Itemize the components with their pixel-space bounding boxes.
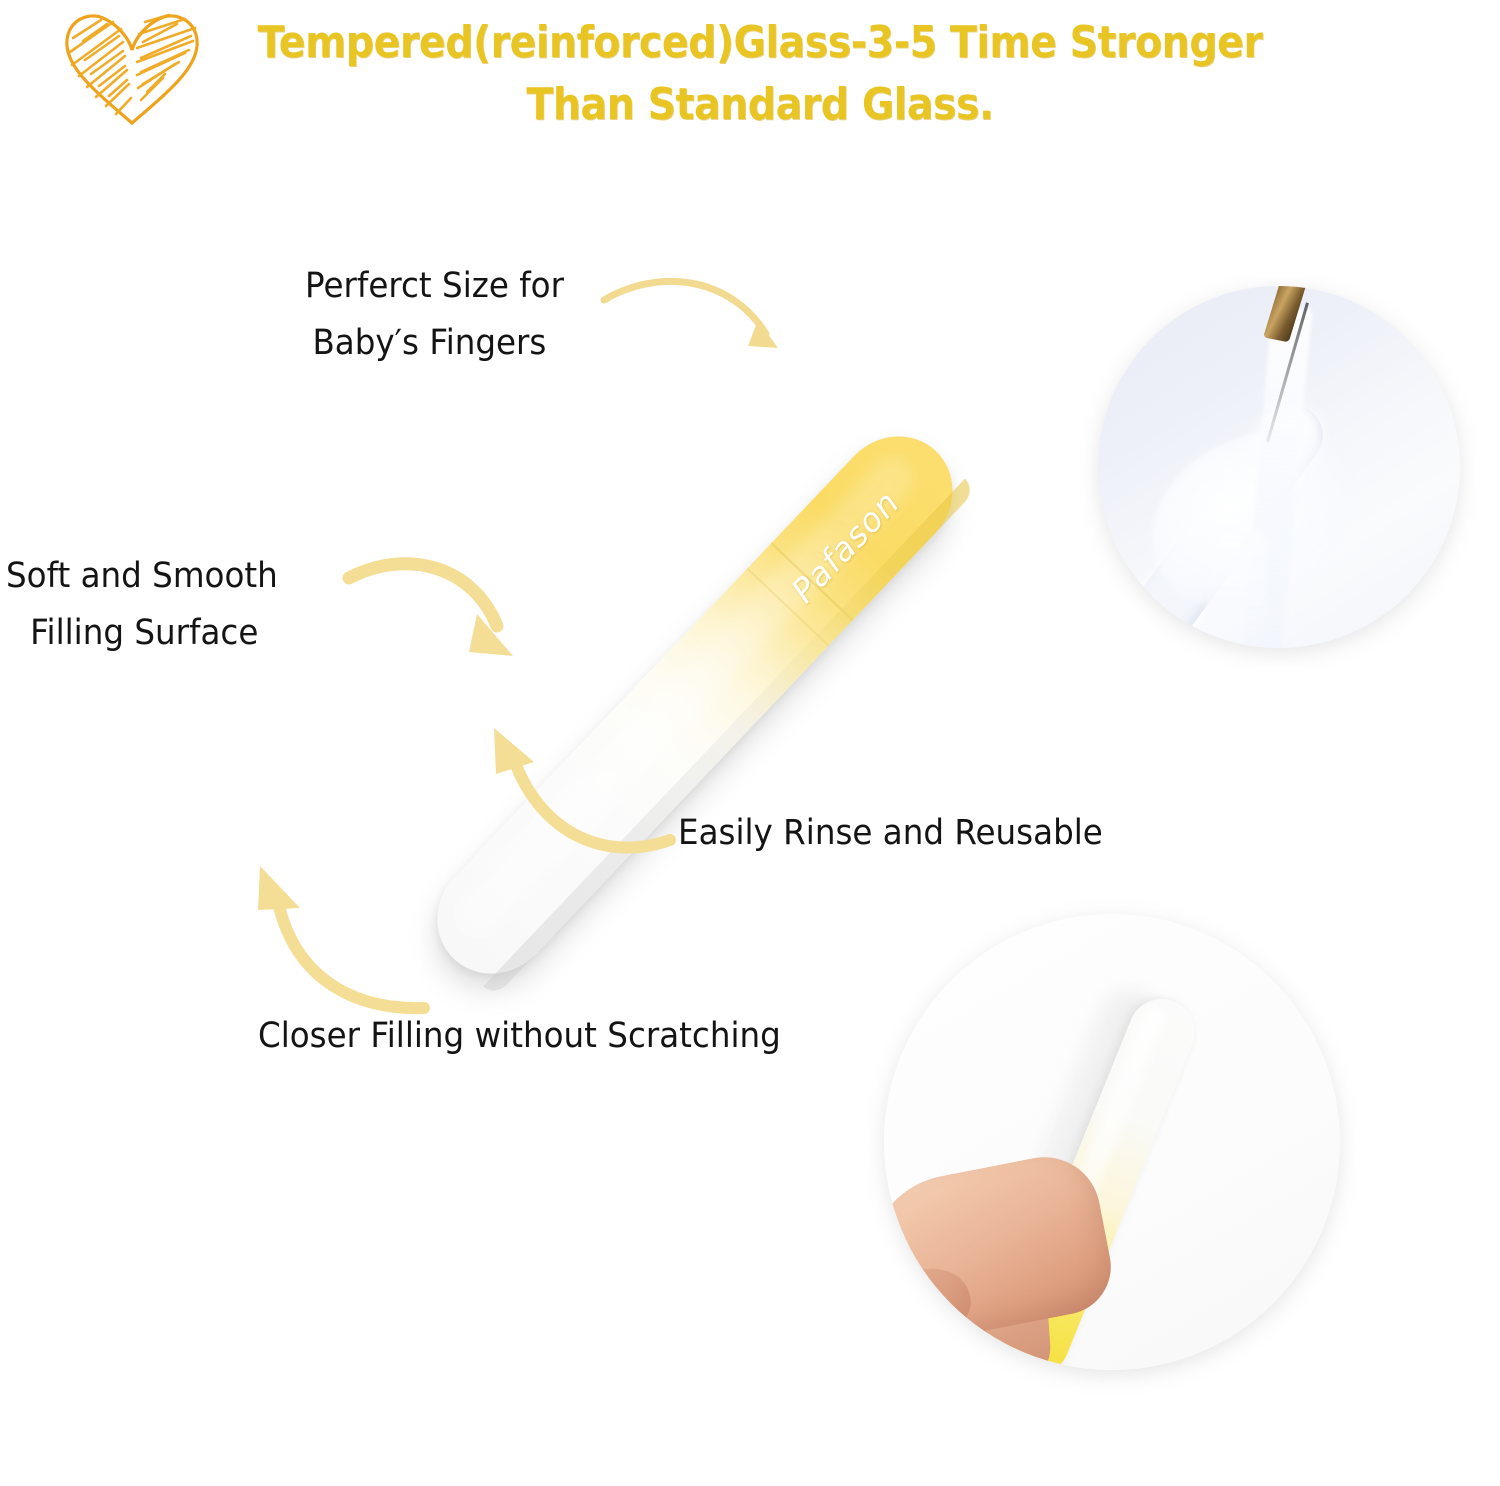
header-banner: Tempered(reinforced)Glass-3-5 Time Stron… xyxy=(0,0,1500,170)
inset-rinse-under-water xyxy=(1098,286,1460,648)
callout-soft-smooth-line-1: Soft and Smooth xyxy=(6,548,278,605)
callout-closer-filling-line-1: Closer Filling without Scratching xyxy=(258,1008,781,1065)
water-drip xyxy=(1201,523,1269,648)
callout-arrow-perfect-size xyxy=(598,262,848,462)
rinse-photo xyxy=(1098,286,1460,648)
brand-label: Pafason xyxy=(784,483,908,610)
callout-perfect-size-line-2: Baby′s Fingers xyxy=(305,315,564,372)
callout-arrow-soft-smooth xyxy=(345,552,575,732)
file-seam-line xyxy=(771,542,854,621)
callout-closer-filling: Closer Filling without Scratching xyxy=(258,1008,781,1065)
file-seam-line-secondary xyxy=(747,567,830,646)
callout-easily-rinse: Easily Rinse and Reusable xyxy=(678,805,1103,862)
callout-easily-rinse-line-1: Easily Rinse and Reusable xyxy=(678,805,1103,862)
callout-perfect-size-line-1: Perferct Size for xyxy=(305,258,564,315)
page-headline: Tempered(reinforced)Glass-3-5 Time Stron… xyxy=(256,12,1264,137)
headline-line-1: Tempered(reinforced)Glass-3-5 Time Stron… xyxy=(256,12,1264,74)
callout-soft-smooth: Soft and Smooth Filling Surface xyxy=(6,548,278,661)
callout-arrow-easily-rinse xyxy=(458,712,698,912)
headline-line-2: Than Standard Glass. xyxy=(256,74,1264,136)
inset-finger-filing xyxy=(884,914,1340,1370)
callout-perfect-size: Perferct Size for Baby′s Fingers xyxy=(305,258,564,371)
callout-soft-smooth-line-2: Filling Surface xyxy=(6,605,278,662)
heart-icon xyxy=(57,8,207,128)
filing-photo xyxy=(884,914,1340,1370)
